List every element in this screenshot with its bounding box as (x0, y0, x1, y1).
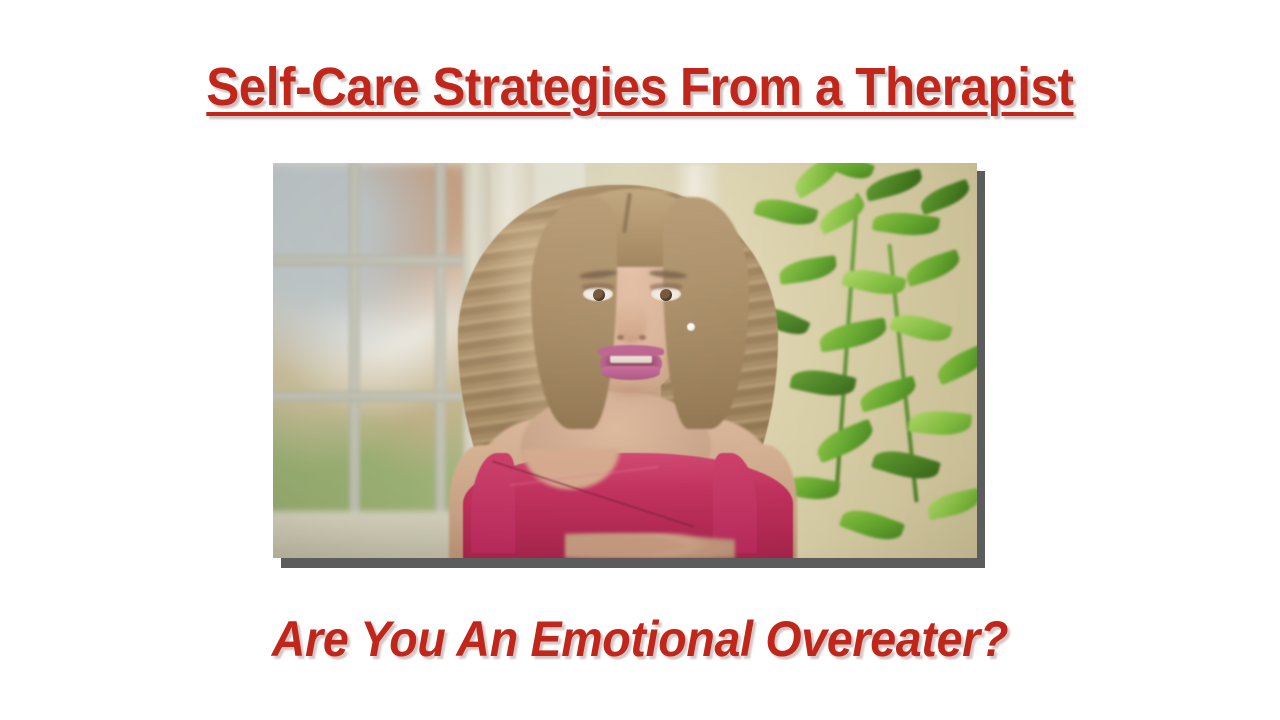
subject-figure (273, 163, 977, 558)
nostril-left (617, 335, 624, 340)
chin-shadow (603, 385, 661, 401)
page-title: Self-Care Strategies From a Therapist (206, 58, 1073, 116)
photo-frame (273, 163, 977, 558)
upper-lip (598, 345, 664, 356)
slide-canvas: Self-Care Strategies From a Therapist (0, 0, 1280, 720)
iris-left (593, 289, 605, 301)
eyelid-right (650, 283, 682, 289)
hands (565, 533, 735, 558)
speaker-photo (273, 163, 977, 558)
caption-container: Are You An Emotional Overeater? (0, 611, 1280, 667)
slide-caption: Are You An Emotional Overeater? (272, 611, 1008, 667)
eyelid-left (582, 283, 614, 289)
iris-right (660, 289, 672, 301)
nostril-right (639, 335, 646, 340)
lower-lip (602, 366, 660, 380)
title-container: Self-Care Strategies From a Therapist (0, 58, 1280, 116)
earring (687, 323, 695, 331)
